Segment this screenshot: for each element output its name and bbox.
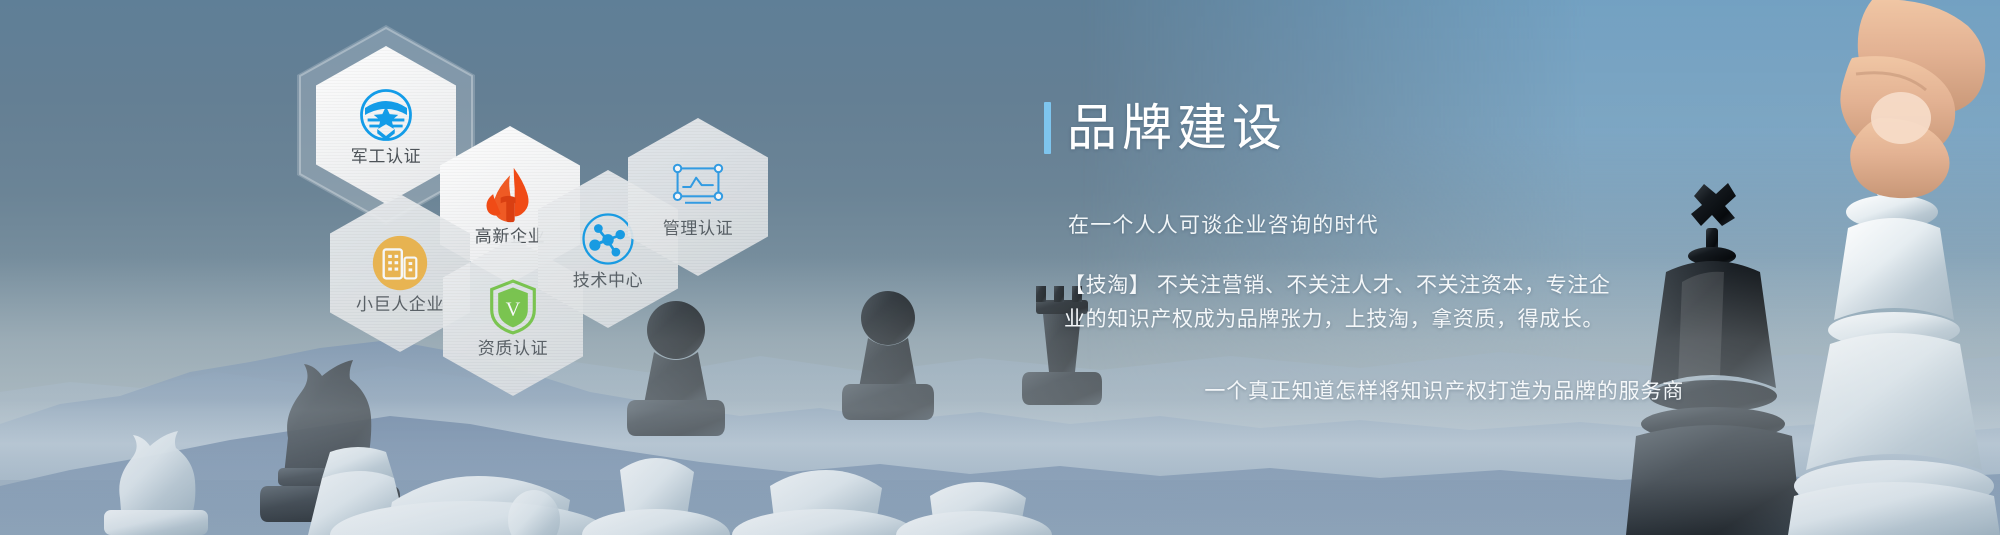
certification-hex-cluster: 军工认证 高新企业 <box>0 0 1000 535</box>
fingernail <box>1871 92 1931 144</box>
flame-torch-icon <box>481 166 539 224</box>
tagline: 一个真正知道怎样将知识产权打造为品牌的服务商 <box>1064 375 1684 405</box>
body-paragraph: 【技淘】 不关注营销、不关注人才、不关注资本，专注企 业的知识产权成为品牌张力，… <box>1064 269 1684 337</box>
badge-military-certification[interactable]: 军工认证 <box>316 46 456 204</box>
buildings-icon <box>371 234 429 292</box>
svg-text:V: V <box>506 298 521 320</box>
title-row: 品牌建设 <box>1044 68 1740 188</box>
banner-copy-block: 品牌建设 在一个人人可谈企业咨询的时代 【技淘】 不关注营销、不关注人才、不关注… <box>1040 68 1740 405</box>
badge-label: 小巨人企业 <box>356 296 444 313</box>
subtitle: 在一个人人可谈企业咨询的时代 <box>1068 209 1740 239</box>
shield-check-icon: V <box>484 278 542 336</box>
badge-label: 管理认证 <box>663 220 733 237</box>
badge-label: 资质认证 <box>478 340 548 357</box>
body-line-2: 业的知识产权成为品牌张力，上技淘，拿资质，得成长。 <box>1064 308 1604 331</box>
accent-bar <box>1044 102 1051 154</box>
page-title: 品牌建设 <box>1067 102 1287 155</box>
body-line-1: 【技淘】 不关注营销、不关注人才、不关注资本，专注企 <box>1064 274 1610 297</box>
brand-banner: 军工认证 高新企业 <box>0 0 2000 535</box>
chart-frame-icon <box>669 158 727 216</box>
badge-label: 技术中心 <box>573 272 643 289</box>
military-emblem-icon <box>357 86 415 144</box>
badge-label: 军工认证 <box>351 148 421 165</box>
